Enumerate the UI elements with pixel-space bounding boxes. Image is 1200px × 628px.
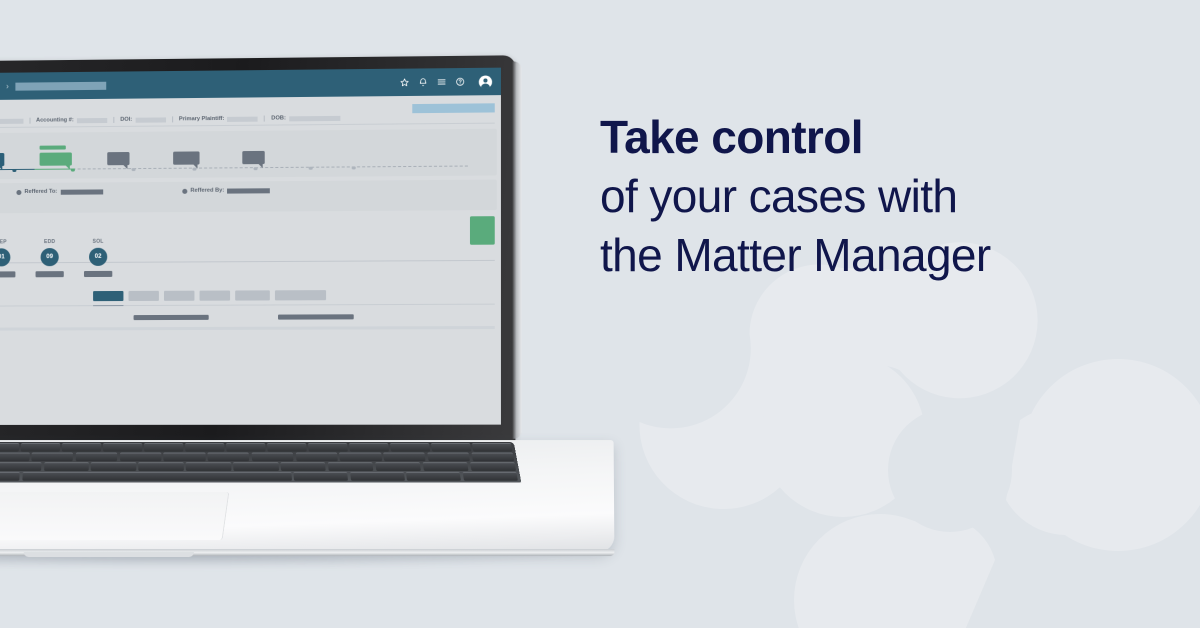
headline-line-1: Take control <box>600 108 1140 167</box>
star-icon[interactable] <box>400 78 409 87</box>
field-primary-plaintiff[interactable]: Primary Plaintiff: <box>172 116 264 123</box>
laptop-screen: Matter Manager › ••• › <box>0 68 501 425</box>
keyboard-row <box>0 462 519 471</box>
date-node-label: EDD <box>33 239 67 245</box>
content-placeholder-bar <box>278 314 354 319</box>
breadcrumb-separator-2: › <box>6 82 9 91</box>
matter-field-row: File #: Index/Docket #: Accounting #: <box>0 113 495 128</box>
field-doi[interactable]: DOI: <box>113 116 172 123</box>
date-node-day: 09 <box>41 248 59 266</box>
date-node[interactable]: EDD 09 <box>33 239 67 277</box>
laptop-deck <box>0 440 614 552</box>
laptop-deck-lip <box>0 549 614 556</box>
timeline-dot[interactable] <box>352 166 356 170</box>
topbar-spacer <box>114 82 393 85</box>
tab-item[interactable] <box>235 290 270 300</box>
marketing-copy: Take control of your cases with the Matt… <box>600 108 1140 285</box>
tab-active[interactable] <box>93 291 123 301</box>
date-node-label: DEP <box>0 239 18 245</box>
timeline-dot[interactable] <box>132 168 136 172</box>
timeline-milestone[interactable] <box>0 153 4 166</box>
date-node-bar <box>36 271 64 277</box>
timeline-milestone-current[interactable] <box>40 152 72 165</box>
important-dates-header: Important Dates View all <box>0 219 495 232</box>
field-value-placeholder <box>135 117 165 122</box>
important-dates-section: Important Dates View all DOIn 02 SOL <box>0 210 501 286</box>
tab-item[interactable] <box>164 291 194 301</box>
date-node-bar <box>0 271 15 277</box>
field-label: DOI: <box>120 117 132 123</box>
field-value-placeholder <box>289 115 340 121</box>
content-placeholder-bar <box>134 315 209 320</box>
timeline-dot[interactable] <box>12 168 16 172</box>
laptop-keyboard <box>0 442 521 483</box>
date-node[interactable]: SOL 02 <box>81 239 115 277</box>
referred-to-field[interactable]: Reffered To: <box>16 188 182 195</box>
field-accounting-number[interactable]: Accounting #: <box>29 117 113 124</box>
tabs-divider <box>0 304 495 307</box>
status-value-placeholder <box>60 189 102 194</box>
date-node-label: SOL <box>81 239 115 245</box>
field-index-docket-number[interactable]: Index/Docket #: <box>0 118 29 125</box>
laptop-lid: Matter Manager › ••• › <box>0 55 515 447</box>
keyboard-row <box>0 443 516 452</box>
field-label: Accounting #: <box>36 117 74 123</box>
status-field[interactable]: Status: <box>0 189 16 196</box>
status-row-primary: Status: Reffered To: Reffered By: <box>0 186 489 196</box>
page-headline: Take control of your cases with the Matt… <box>600 108 1140 285</box>
status-bullet-icon <box>182 188 187 193</box>
headline-line-3: the Matter Manager <box>600 226 1140 285</box>
field-dob[interactable]: DOB: <box>264 115 346 122</box>
referred-by-field[interactable]: Reffered By: <box>182 187 270 194</box>
detail-tabs <box>0 289 495 302</box>
date-node-day: 01 <box>0 248 10 266</box>
timeline-dot[interactable] <box>254 167 258 171</box>
field-label: Primary Plaintiff: <box>179 116 225 122</box>
tab-item[interactable] <box>129 291 159 301</box>
case-timeline <box>0 129 497 180</box>
content-divider <box>0 326 495 331</box>
field-value-placeholder <box>0 118 23 123</box>
breadcrumb-current-placeholder[interactable] <box>16 81 107 90</box>
detail-content-placeholders <box>0 314 495 324</box>
headline-line-2: of your cases with <box>600 167 1140 226</box>
timeline-milestone[interactable] <box>107 152 129 165</box>
status-label: Reffered By: <box>190 188 224 194</box>
timeline-dot[interactable] <box>309 166 313 170</box>
timeline-milestone-cap <box>40 145 66 149</box>
menu-icon[interactable] <box>437 77 446 86</box>
date-node-day: 02 <box>89 248 107 266</box>
bell-icon[interactable] <box>418 78 427 87</box>
field-label: DOB: <box>271 115 286 121</box>
laptop-mockup: Matter Manager › ••• › <box>0 62 640 562</box>
timeline-milestone[interactable] <box>173 151 199 164</box>
date-node-bar <box>84 271 112 277</box>
detail-tabs-section <box>0 289 501 331</box>
tab-item[interactable] <box>275 290 326 300</box>
laptop-base <box>0 440 614 552</box>
matter-header: Goldstein v. Allensmith File #: Index/Do… <box>0 95 501 129</box>
help-icon[interactable] <box>456 77 465 86</box>
tab-item[interactable] <box>200 291 231 301</box>
keyboard-row <box>0 453 517 462</box>
date-node[interactable]: DEP 01 <box>0 239 18 277</box>
topbar-icon-group <box>400 74 493 89</box>
laptop-deck-notch <box>24 552 194 557</box>
field-value-placeholder <box>77 117 107 122</box>
status-row-secondary: Sub-Status: <box>0 197 489 207</box>
laptop-trackpad <box>0 492 229 540</box>
status-bullet-icon <box>16 190 21 195</box>
status-value-placeholder <box>227 188 270 193</box>
matter-header-chip[interactable] <box>412 103 494 113</box>
matter-manager-app: Matter Manager › ••• › <box>0 68 501 425</box>
user-avatar-icon[interactable] <box>478 74 492 88</box>
status-label: Reffered To: <box>24 189 57 195</box>
timeline-milestone[interactable] <box>242 151 264 164</box>
important-dates-rail: DOIn 02 SOL 26 DEP 01 <box>0 237 495 286</box>
field-value-placeholder <box>227 116 258 121</box>
timeline-dot[interactable] <box>71 168 75 172</box>
dates-rail-line <box>0 260 495 264</box>
keyboard-row <box>0 472 521 481</box>
status-panel: Status: Reffered To: Reffered By: <box>0 180 497 214</box>
